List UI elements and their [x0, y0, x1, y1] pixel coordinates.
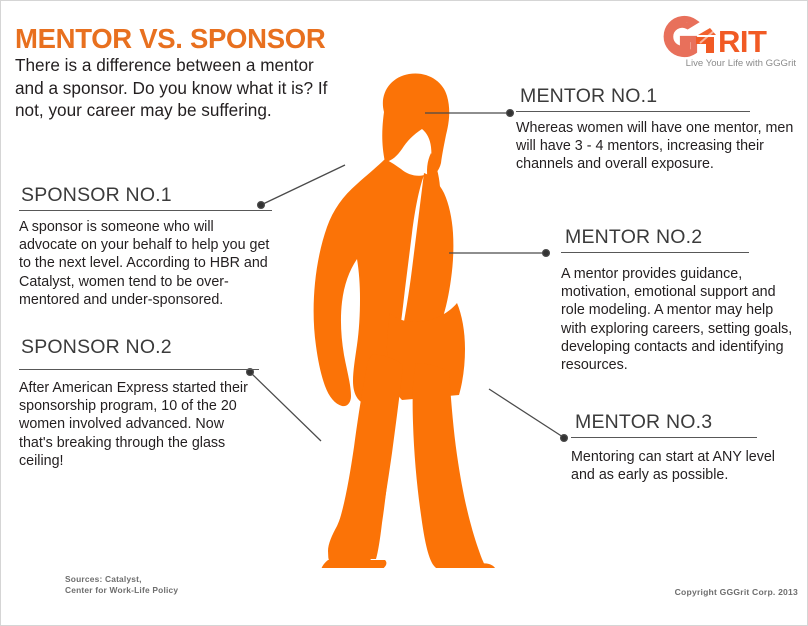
callout-body: After American Express started their spo…	[19, 379, 259, 470]
callout-mentor-1: MENTOR NO.1 Whereas women will have one …	[516, 85, 796, 174]
callout-body: A sponsor is someone who will advocate o…	[19, 218, 272, 309]
sources-note: Sources: Catalyst, Center for Work-Life …	[65, 574, 178, 595]
callout-sponsor-1: SPONSOR NO.1 A sponsor is someone who wi…	[19, 184, 272, 309]
callout-title: MENTOR NO.1	[516, 85, 796, 108]
copyright-note: Copyright GGGrit Corp. 2013	[675, 587, 798, 597]
callout-rule	[561, 252, 749, 253]
callout-title: MENTOR NO.2	[561, 226, 801, 249]
callout-mentor-2: MENTOR NO.2 A mentor provides guidance, …	[561, 226, 801, 374]
callout-sponsor-2: SPONSOR NO.2 After American Express star…	[19, 336, 259, 470]
callout-body: Mentoring can start at ANY level and as …	[571, 448, 801, 484]
callout-rule	[19, 210, 272, 211]
callout-rule	[571, 437, 757, 438]
connector-sponsor-2	[251, 373, 321, 441]
callout-title: MENTOR NO.3	[571, 411, 801, 434]
callout-body: Whereas women will have one mentor, men …	[516, 119, 796, 174]
connector-sponsor-1	[263, 165, 345, 204]
sources-line-2: Center for Work-Life Policy	[65, 585, 178, 596]
infographic-canvas: MENTOR VS. SPONSOR There is a difference…	[0, 0, 808, 626]
connector-mentor-3	[489, 389, 563, 437]
callout-body: A mentor provides guidance, motivation, …	[561, 265, 801, 374]
callout-rule	[19, 369, 259, 370]
callout-rule	[516, 111, 750, 112]
callout-title: SPONSOR NO.2	[19, 336, 259, 359]
sources-line-1: Sources: Catalyst,	[65, 574, 178, 585]
callout-mentor-3: MENTOR NO.3 Mentoring can start at ANY l…	[571, 411, 801, 484]
callout-title: SPONSOR NO.1	[19, 184, 272, 207]
